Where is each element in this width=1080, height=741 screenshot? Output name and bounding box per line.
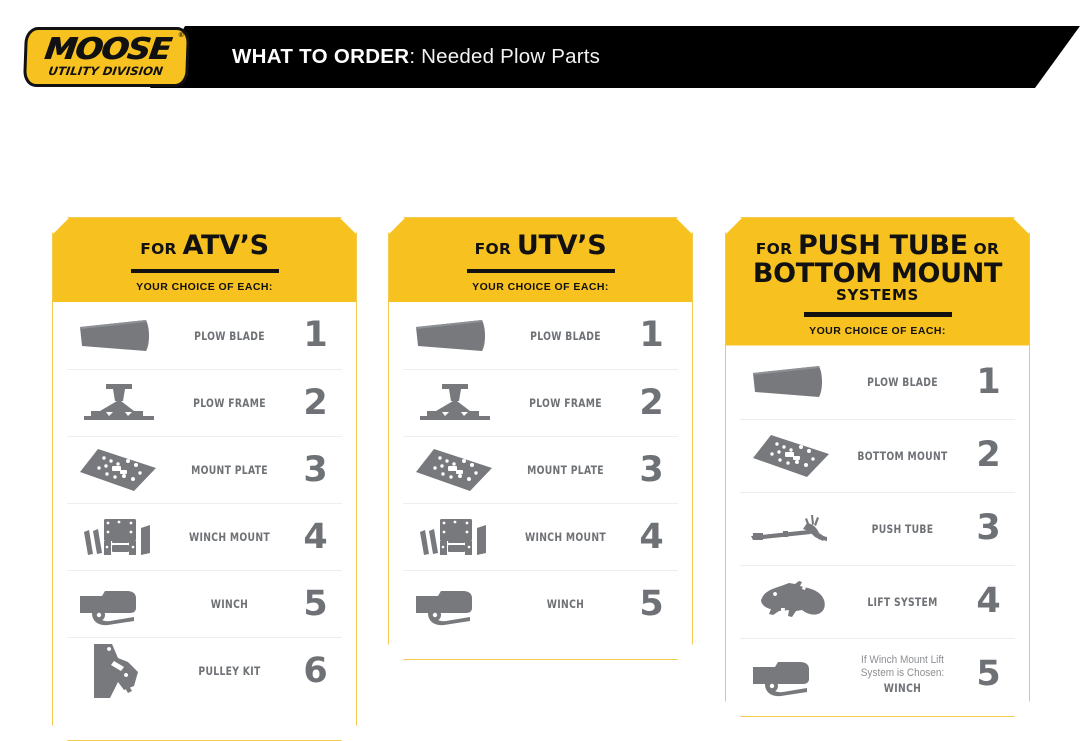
page-title: WHAT TO ORDER: Needed Plow Parts bbox=[232, 45, 600, 69]
part-number: 1 bbox=[288, 318, 342, 353]
card-for-push-tube-bottom-mount: FOR PUSH TUBE OR BOTTOM MOUNT SYSTEMS YO… bbox=[725, 217, 1030, 717]
part-number: 2 bbox=[961, 438, 1015, 473]
table-row[interactable]: MOUNT PLATE 3 bbox=[403, 436, 678, 503]
part-number: 6 bbox=[288, 654, 342, 689]
table-row[interactable]: PLOW FRAME 2 bbox=[67, 369, 342, 436]
part-note: If Winch Mount Lift System is Chosen: bbox=[847, 654, 958, 680]
table-row[interactable]: WINCH MOUNT 4 bbox=[403, 503, 678, 570]
plow-frame-icon bbox=[403, 381, 507, 425]
plow-blade-icon bbox=[67, 316, 171, 356]
registered-trademark-icon: ® bbox=[178, 32, 183, 39]
moose-utility-division-logo: MOOSE UTILITY DIVISION ® bbox=[23, 27, 190, 87]
card-head-subject-2: BOTTOM MOUNT bbox=[726, 260, 1029, 288]
part-number: 3 bbox=[288, 453, 342, 488]
plow-blade-icon bbox=[403, 316, 507, 356]
page-header: MOOSE UTILITY DIVISION ® WHAT TO ORDER: … bbox=[0, 0, 1080, 98]
plow-frame-icon bbox=[67, 381, 171, 425]
table-row[interactable]: PLOW BLADE 1 bbox=[740, 346, 1015, 419]
table-row[interactable]: If Winch Mount Lift System is Chosen: WI… bbox=[740, 638, 1015, 711]
winch-mount-icon bbox=[403, 514, 507, 560]
card-header-atvs: FOR ATV’S YOUR CHOICE OF EACH: bbox=[53, 218, 356, 302]
part-label: LIFT SYSTEM bbox=[850, 595, 955, 609]
card-for-atvs: FOR ATV’S YOUR CHOICE OF EACH: PLOW BLAD… bbox=[52, 217, 357, 741]
page-title-light: : Needed Plow Parts bbox=[409, 45, 600, 68]
card-head-for: FOR bbox=[140, 240, 182, 258]
table-row[interactable]: PULLEY KIT 6 bbox=[67, 637, 342, 704]
parts-list-atvs: PLOW BLADE 1 PLOW FRAME 2 MOUNT PLATE 3 bbox=[53, 302, 356, 704]
card-head-for: FOR bbox=[475, 240, 517, 258]
table-row[interactable]: WINCH MOUNT 4 bbox=[67, 503, 342, 570]
parts-list-push-tube: PLOW BLADE 1 BOTTOM MOUNT 2 PUSH TUBE 3 bbox=[726, 346, 1029, 711]
table-row[interactable]: WINCH 5 bbox=[67, 570, 342, 637]
part-label: BOTTOM MOUNT bbox=[850, 449, 955, 463]
winch-icon bbox=[403, 582, 507, 626]
pulley-kit-icon bbox=[67, 641, 171, 701]
part-label: WINCH MOUNT bbox=[513, 530, 618, 544]
card-subhead-utvs: YOUR CHOICE OF EACH: bbox=[389, 281, 692, 302]
part-number: 1 bbox=[961, 365, 1015, 400]
part-number: 5 bbox=[961, 657, 1015, 692]
logo-subtitle: UTILITY DIVISION bbox=[48, 65, 164, 78]
push-tube-icon bbox=[740, 509, 844, 549]
parts-list-utvs: PLOW BLADE 1 PLOW FRAME 2 MOUNT PLATE 3 bbox=[389, 302, 692, 637]
part-label: PLOW BLADE bbox=[513, 329, 618, 343]
part-number: 5 bbox=[624, 587, 678, 622]
part-number: 4 bbox=[961, 584, 1015, 619]
bottom-mount-icon bbox=[740, 432, 844, 480]
part-number: 2 bbox=[624, 386, 678, 421]
part-label: WINCH MOUNT bbox=[177, 530, 282, 544]
part-label: MOUNT PLATE bbox=[513, 463, 618, 477]
card-head-subject: UTV’S bbox=[517, 230, 606, 261]
mount-plate-icon bbox=[67, 446, 171, 494]
part-label: PUSH TUBE bbox=[850, 522, 955, 536]
card-head-or: OR bbox=[968, 240, 999, 258]
header-divider bbox=[131, 269, 279, 274]
part-number: 4 bbox=[624, 520, 678, 555]
card-head-for: FOR bbox=[756, 240, 798, 258]
card-for-utvs: FOR UTV’S YOUR CHOICE OF EACH: PLOW BLAD… bbox=[388, 217, 693, 660]
part-label: WINCH bbox=[850, 681, 955, 695]
table-row[interactable]: WINCH 5 bbox=[403, 570, 678, 637]
table-row[interactable]: PLOW FRAME 2 bbox=[403, 369, 678, 436]
part-number: 5 bbox=[288, 587, 342, 622]
part-label: PLOW BLADE bbox=[850, 375, 955, 389]
card-header-utvs: FOR UTV’S YOUR CHOICE OF EACH: bbox=[389, 218, 692, 302]
part-number: 1 bbox=[624, 318, 678, 353]
card-head-systems: SYSTEMS bbox=[726, 288, 1029, 303]
page-title-strong: WHAT TO ORDER bbox=[232, 45, 409, 68]
part-number: 3 bbox=[624, 453, 678, 488]
part-number: 2 bbox=[288, 386, 342, 421]
part-label: WINCH bbox=[513, 597, 618, 611]
table-row[interactable]: LIFT SYSTEM 4 bbox=[740, 565, 1015, 638]
card-head-subject: ATV’S bbox=[182, 230, 268, 261]
part-label: PLOW FRAME bbox=[513, 396, 618, 410]
card-header-push-tube: FOR PUSH TUBE OR BOTTOM MOUNT SYSTEMS YO… bbox=[726, 218, 1029, 346]
part-label: PLOW FRAME bbox=[177, 396, 282, 410]
table-row[interactable]: BOTTOM MOUNT 2 bbox=[740, 419, 1015, 492]
part-label: MOUNT PLATE bbox=[177, 463, 282, 477]
winch-icon bbox=[67, 582, 171, 626]
cards-container: FOR ATV’S YOUR CHOICE OF EACH: PLOW BLAD… bbox=[0, 98, 1080, 691]
part-label: WINCH bbox=[177, 597, 282, 611]
winch-mount-icon bbox=[67, 514, 171, 560]
logo-wordmark: MOOSE bbox=[42, 36, 171, 64]
part-number: 4 bbox=[288, 520, 342, 555]
part-number: 3 bbox=[961, 511, 1015, 546]
mount-plate-icon bbox=[403, 446, 507, 494]
part-label-with-note: If Winch Mount Lift System is Chosen: WI… bbox=[850, 654, 955, 696]
part-label: PLOW BLADE bbox=[177, 329, 282, 343]
card-head-subject-1: PUSH TUBE bbox=[798, 230, 968, 261]
part-label: PULLEY KIT bbox=[177, 664, 282, 678]
table-row[interactable]: MOUNT PLATE 3 bbox=[67, 436, 342, 503]
card-subhead-push-tube: YOUR CHOICE OF EACH: bbox=[726, 325, 1029, 346]
header-divider bbox=[467, 269, 615, 274]
lift-system-icon bbox=[740, 578, 844, 626]
header-divider bbox=[804, 312, 952, 317]
winch-icon bbox=[740, 653, 844, 697]
card-subhead-atvs: YOUR CHOICE OF EACH: bbox=[53, 281, 356, 302]
table-row[interactable]: PUSH TUBE 3 bbox=[740, 492, 1015, 565]
plow-blade-icon bbox=[740, 362, 844, 402]
table-row[interactable]: PLOW BLADE 1 bbox=[403, 302, 678, 369]
table-row[interactable]: PLOW BLADE 1 bbox=[67, 302, 342, 369]
